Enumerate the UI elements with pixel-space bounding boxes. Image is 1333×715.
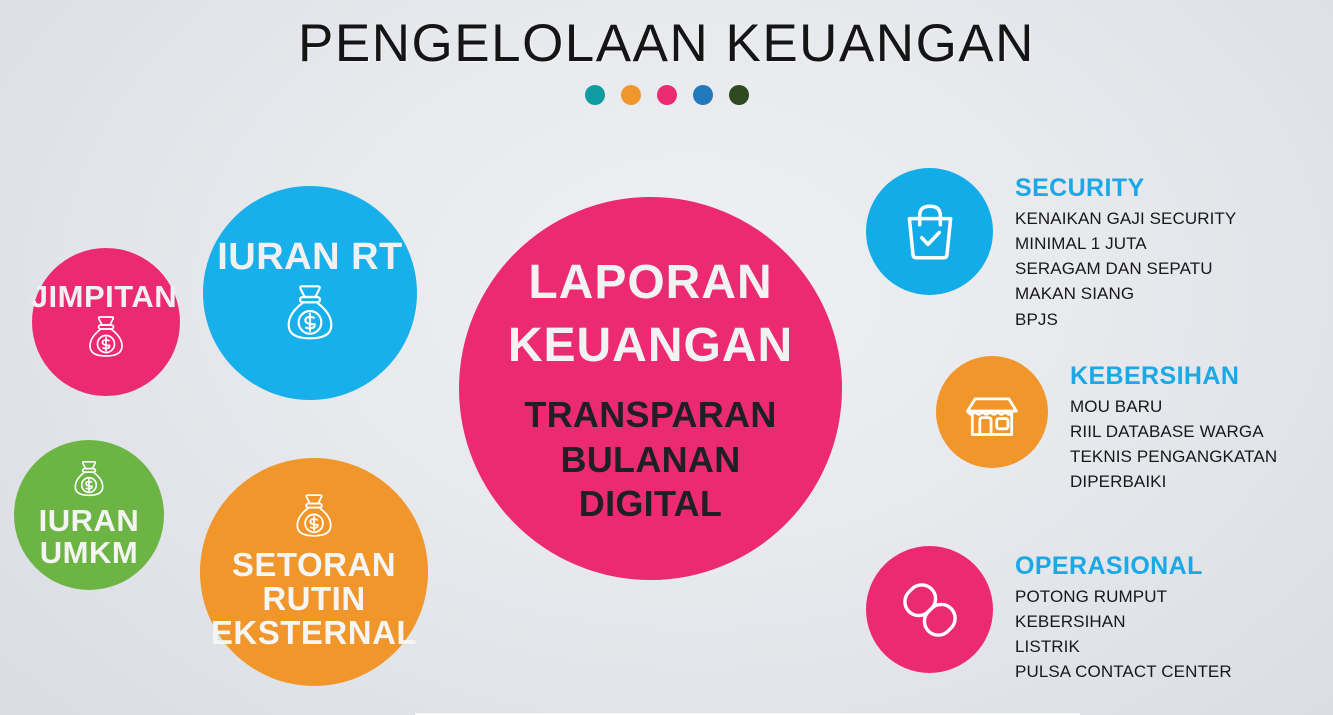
money-bag-icon: [85, 315, 127, 364]
page-title: PENGELOLAAN KEUANGAN: [0, 14, 1333, 73]
source-bubble-iuran-rt: IURAN RT: [203, 186, 417, 400]
list-item: SERAGAM DAN SEPATU: [1015, 256, 1236, 281]
hub-subtitle: TRANSPARAN BULANAN DIGITAL: [524, 393, 776, 526]
dot-blue: [693, 85, 713, 105]
group-kebersihan-text: KEBERSIHAN MOU BARU RIIL DATABASE WARGA …: [1070, 356, 1277, 495]
dot-orange: [621, 85, 641, 105]
group-kebersihan-heading: KEBERSIHAN: [1070, 362, 1277, 391]
list-item: RIIL DATABASE WARGA: [1070, 419, 1277, 444]
chain-link-icon: [866, 546, 993, 673]
list-item: PULSA CONTACT CENTER: [1015, 659, 1232, 684]
source-label-setoran-line3: EKSTERNAL: [211, 616, 417, 650]
group-operasional: OPERASIONAL POTONG RUMPUT KEBERSIHAN LIS…: [866, 546, 1232, 685]
list-item: DIPERBAIKI: [1070, 469, 1277, 494]
source-bubble-setoran-rutin-eksternal: SETORAN RUTIN EKSTERNAL: [200, 458, 428, 686]
list-item: MOU BARU: [1070, 394, 1277, 419]
shopping-bag-check-icon: [866, 168, 993, 295]
source-bubble-jimpitan: JIMPITAN: [32, 248, 180, 396]
list-item: BPJS: [1015, 307, 1236, 332]
center-hub-circle: LAPORAN KEUANGAN TRANSPARAN BULANAN DIGI…: [459, 197, 842, 580]
hub-subtitle-line1: TRANSPARAN: [524, 393, 776, 437]
hub-title: LAPORAN KEUANGAN: [508, 251, 793, 378]
group-operasional-text: OPERASIONAL POTONG RUMPUT KEBERSIHAN LIS…: [1015, 546, 1232, 685]
list-item: MAKAN SIANG: [1015, 281, 1236, 306]
source-bubble-iuran-umkm: IURAN UMKM: [14, 440, 164, 590]
group-security-text: SECURITY KENAIKAN GAJI SECURITY MINIMAL …: [1015, 168, 1236, 332]
list-item: POTONG RUMPUT: [1015, 584, 1232, 609]
group-security: SECURITY KENAIKAN GAJI SECURITY MINIMAL …: [866, 168, 1236, 332]
group-operasional-list: POTONG RUMPUT KEBERSIHAN LISTRIK PULSA C…: [1015, 584, 1232, 685]
dot-pink: [657, 85, 677, 105]
group-security-heading: SECURITY: [1015, 174, 1236, 203]
source-label-iuran-umkm-line1: IURAN: [39, 505, 140, 537]
source-label-jimpitan: JIMPITAN: [31, 281, 177, 313]
source-label-setoran-line1: SETORAN: [232, 548, 396, 582]
source-label-iuran-umkm-line2: UMKM: [40, 537, 138, 569]
hub-subtitle-line3: DIGITAL: [524, 482, 776, 526]
source-label-iuran-rt: IURAN RT: [217, 238, 403, 278]
group-kebersihan-list: MOU BARU RIIL DATABASE WARGA TEKNIS PENG…: [1070, 394, 1277, 495]
money-bag-icon: [282, 283, 338, 348]
money-bag-icon: [71, 460, 107, 503]
storefront-icon: [936, 356, 1048, 468]
money-bag-icon: [292, 493, 336, 544]
list-item: KEBERSIHAN: [1015, 609, 1232, 634]
hub-title-line2: KEUANGAN: [508, 314, 793, 377]
group-operasional-heading: OPERASIONAL: [1015, 552, 1232, 581]
group-kebersihan: KEBERSIHAN MOU BARU RIIL DATABASE WARGA …: [936, 356, 1277, 495]
hub-title-line1: LAPORAN: [508, 251, 793, 314]
list-item: MINIMAL 1 JUTA: [1015, 231, 1236, 256]
group-security-list: KENAIKAN GAJI SECURITY MINIMAL 1 JUTA SE…: [1015, 206, 1236, 332]
list-item: TEKNIS PENGANGKATAN: [1070, 444, 1277, 469]
hub-subtitle-line2: BULANAN: [524, 438, 776, 482]
title-block: PENGELOLAAN KEUANGAN: [0, 14, 1333, 105]
list-item: KENAIKAN GAJI SECURITY: [1015, 206, 1236, 231]
list-item: LISTRIK: [1015, 634, 1232, 659]
dot-teal: [585, 85, 605, 105]
dot-green: [729, 85, 749, 105]
source-label-setoran-line2: RUTIN: [262, 582, 365, 616]
title-dot-row: [0, 85, 1333, 105]
